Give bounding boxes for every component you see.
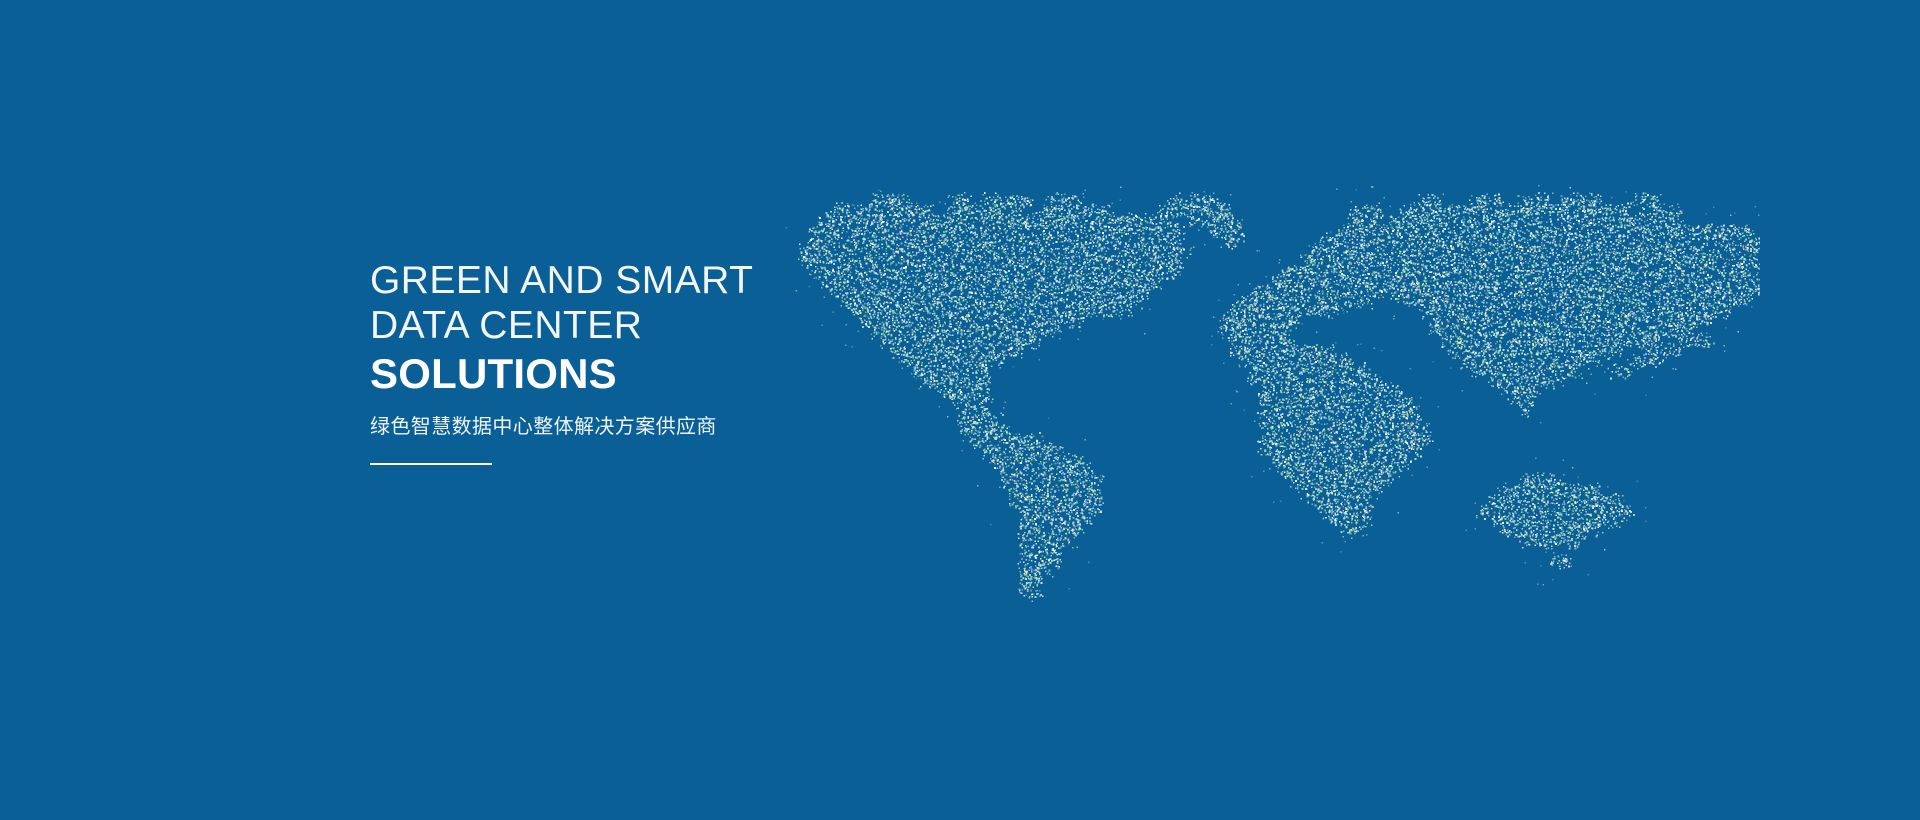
headline-line-1: GREEN AND SMART [370,258,930,303]
hero-banner: GREEN AND SMART DATA CENTER SOLUTIONS 绿色… [0,0,1920,820]
headline-line-2: DATA CENTER [370,303,930,348]
hero-divider-rule [370,463,492,465]
hero-subtitle: 绿色智慧数据中心整体解决方案供应商 [370,413,930,441]
headline-line-3: SOLUTIONS [370,349,930,399]
hero-text-block: GREEN AND SMART DATA CENTER SOLUTIONS 绿色… [370,258,930,465]
